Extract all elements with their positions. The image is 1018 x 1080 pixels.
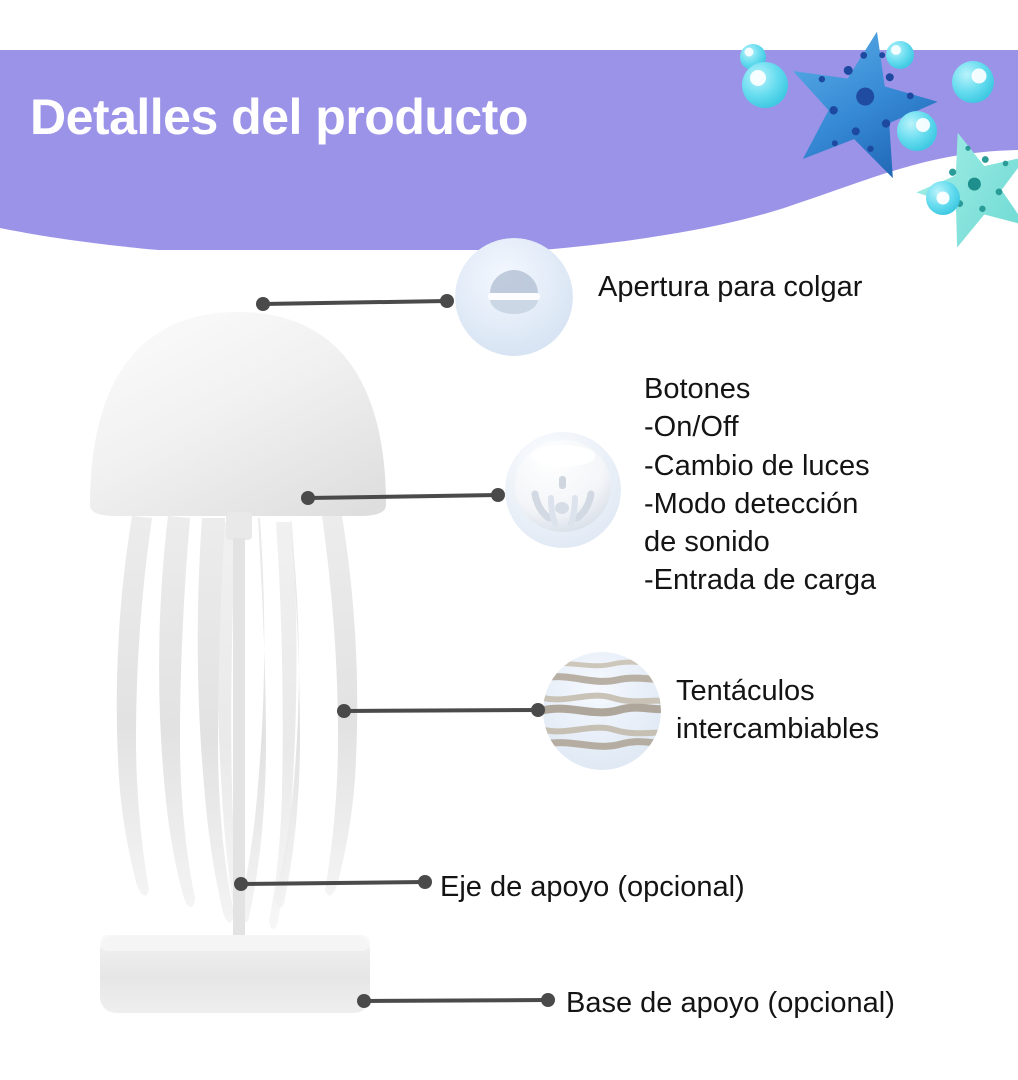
leader-line-shaft xyxy=(233,874,433,892)
hanging-hole-closeup-inset xyxy=(455,238,573,356)
callout-label-tentacles: Tentáculos intercambiables xyxy=(676,672,879,749)
callout-label-hanging: Apertura para colgar xyxy=(598,268,862,306)
page-title: Detalles del producto xyxy=(30,92,528,142)
jellyfish-lamp-illustration xyxy=(70,290,410,1050)
tentacles-closeup-inset xyxy=(543,652,661,770)
jellyfish-dome xyxy=(90,312,386,516)
leader-line-hanging xyxy=(255,294,455,312)
buttons-underside-closeup-inset xyxy=(505,432,621,548)
product-details-page: Detalles del producto xyxy=(0,0,1018,1080)
leader-line-base xyxy=(356,991,556,1009)
leader-line-buttons xyxy=(300,487,506,505)
callout-label-buttons: Botones -On/Off -Cambio de luces -Modo d… xyxy=(644,370,876,600)
support-base xyxy=(100,935,370,1013)
callout-label-shaft: Eje de apoyo (opcional) xyxy=(440,868,745,906)
leader-line-tentacles xyxy=(336,701,546,719)
header-banner: Detalles del producto xyxy=(0,0,1018,250)
callout-label-base: Base de apoyo (opcional) xyxy=(566,984,895,1022)
